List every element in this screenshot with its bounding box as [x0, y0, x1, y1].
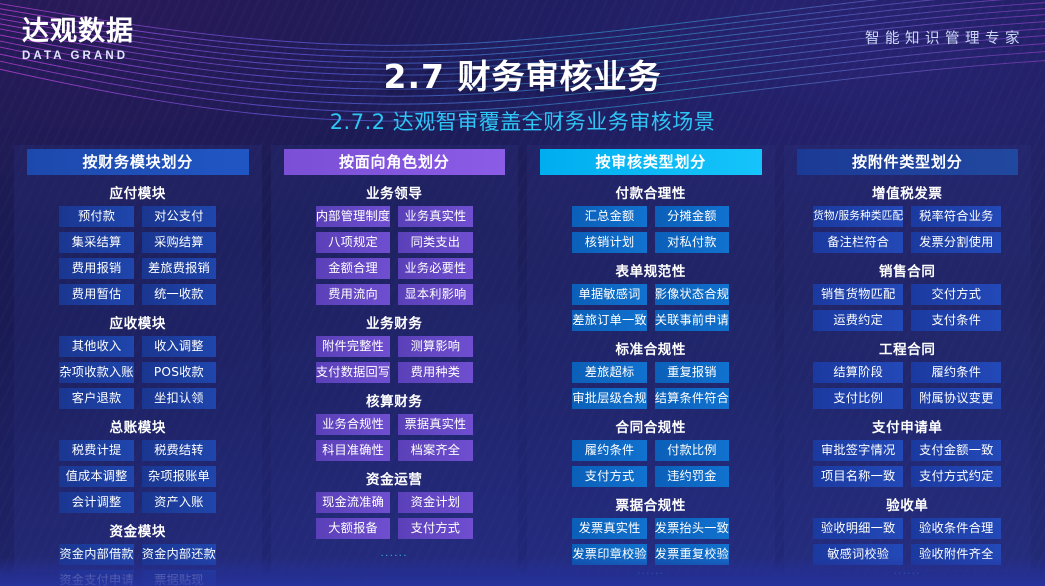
section-title: 资金模块 [59, 520, 216, 540]
section-item-grid: 业务合规性票据真实性科目准确性档案齐全 [316, 414, 473, 461]
category-item[interactable]: 显本利影响 [398, 284, 472, 305]
section-title: 应付模块 [59, 182, 216, 202]
category-item[interactable]: 差旅费报销 [142, 258, 216, 279]
section-title: 核算财务 [316, 390, 473, 410]
section-title: 业务财务 [316, 312, 473, 332]
category-item[interactable]: 附属协议变更 [911, 388, 1001, 409]
category-item[interactable]: 审批签字情况 [813, 440, 903, 461]
category-item[interactable]: 金额合理 [316, 258, 390, 279]
category-item[interactable]: 客户退款 [59, 388, 133, 409]
section-item-grid: 其他收入收入调整杂项收款入账POS收款客户退款坐扣认领 [59, 336, 216, 409]
category-item[interactable]: 档案齐全 [398, 440, 472, 461]
category-item[interactable]: 影像状态合规 [655, 284, 729, 305]
page-subtitle: 2.7.2 达观智审覆盖全财务业务审核场景 [0, 106, 1045, 136]
category-item[interactable]: 费用暂估 [59, 284, 133, 305]
section-title: 总账模块 [59, 416, 216, 436]
category-item[interactable]: 支付方式 [398, 518, 472, 539]
category-item[interactable]: 结算条件符合 [655, 388, 729, 409]
section-title: 销售合同 [813, 260, 1001, 280]
category-item[interactable]: 备注栏符合 [813, 232, 903, 253]
category-item[interactable]: 重复报销 [655, 362, 729, 383]
category-item[interactable]: 会计调整 [59, 492, 133, 513]
category-item[interactable]: 大额报备 [316, 518, 390, 539]
category-item[interactable]: 内部管理制度 [316, 206, 390, 227]
column-header: 按财务模块划分 [27, 149, 249, 175]
section-title: 验收单 [813, 494, 1001, 514]
category-item[interactable]: 业务真实性 [398, 206, 472, 227]
category-item[interactable]: 单据敏感词 [572, 284, 646, 305]
section-item-grid: 销售货物匹配交付方式运费约定支付条件 [813, 284, 1001, 331]
category-item[interactable]: 值成本调整 [59, 466, 133, 487]
category-item[interactable]: 发票真实性 [572, 518, 646, 539]
category-item[interactable]: 业务必要性 [398, 258, 472, 279]
category-item[interactable]: 预付款 [59, 206, 133, 227]
category-item[interactable]: 销售货物匹配 [813, 284, 903, 305]
section-item-grid: 结算阶段履约条件支付比例附属协议变更 [813, 362, 1001, 409]
category-item[interactable]: 付款比例 [655, 440, 729, 461]
category-item[interactable]: 货物/服务种类匹配 [813, 206, 903, 227]
category-item[interactable]: 核销计划 [572, 232, 646, 253]
category-item[interactable]: 差旅订单一致 [572, 310, 646, 331]
category-item[interactable]: 杂项报账单 [142, 466, 216, 487]
category-item[interactable]: 费用种类 [398, 362, 472, 383]
category-item[interactable]: 验收明细一致 [813, 518, 903, 539]
column-body: 增值税发票货物/服务种类匹配税率符合业务备注栏符合发票分割使用销售合同销售货物匹… [813, 175, 1001, 565]
section-item-grid: 附件完整性测算影响支付数据回写费用种类 [316, 336, 473, 383]
category-item[interactable]: 对私付款 [655, 232, 729, 253]
category-item[interactable]: 票据真实性 [398, 414, 472, 435]
category-item[interactable]: 费用流向 [316, 284, 390, 305]
section-title: 工程合同 [813, 338, 1001, 358]
section-title: 应收模块 [59, 312, 216, 332]
category-item[interactable]: 现金流准确 [316, 492, 390, 513]
category-item[interactable]: 集采结算 [59, 232, 133, 253]
category-item[interactable]: 测算影响 [398, 336, 472, 357]
category-columns: 按财务模块划分 应付模块预付款对公支付集采结算采购结算费用报销差旅费报销费用暂估… [14, 145, 1031, 573]
section-item-grid: 预付款对公支付集采结算采购结算费用报销差旅费报销费用暂估统一收款 [59, 206, 216, 305]
column-audit-type: 按审核类型划分 付款合理性汇总金额分摊金额核销计划对私付款表单规范性单据敏感词影… [527, 145, 775, 573]
section-title: 业务领导 [316, 182, 473, 202]
section-item-grid: 汇总金额分摊金额核销计划对私付款 [572, 206, 729, 253]
category-item[interactable]: 分摊金额 [655, 206, 729, 227]
category-item[interactable]: 结算阶段 [813, 362, 903, 383]
section-title: 标准合规性 [572, 338, 729, 358]
category-item[interactable]: 审批层级合规 [572, 388, 646, 409]
category-item[interactable]: 履约条件 [572, 440, 646, 461]
section-item-grid: 现金流准确资金计划大额报备支付方式 [316, 492, 473, 539]
category-item[interactable]: 违约罚金 [655, 466, 729, 487]
category-item[interactable]: 发票分割使用 [911, 232, 1001, 253]
category-item[interactable]: 支付比例 [813, 388, 903, 409]
column-finance-module: 按财务模块划分 应付模块预付款对公支付集采结算采购结算费用报销差旅费报销费用暂估… [14, 145, 262, 573]
section-item-grid: 履约条件付款比例支付方式违约罚金 [572, 440, 729, 487]
brand-name-cn: 达观数据 [22, 18, 152, 46]
column-role-facing: 按面向角色划分 业务领导内部管理制度业务真实性八项规定同类支出金额合理业务必要性… [271, 145, 519, 573]
category-item[interactable]: 项目名称一致 [813, 466, 903, 487]
category-item[interactable]: 附件完整性 [316, 336, 390, 357]
category-item[interactable]: 费用报销 [59, 258, 133, 279]
category-item[interactable]: 八项规定 [316, 232, 390, 253]
column-body: 业务领导内部管理制度业务真实性八项规定同类支出金额合理业务必要性费用流向显本利影… [316, 175, 473, 539]
category-item[interactable]: 税费计提 [59, 440, 133, 461]
category-item[interactable]: 采购结算 [142, 232, 216, 253]
category-item[interactable]: 支付条件 [911, 310, 1001, 331]
category-item[interactable]: 支付方式约定 [911, 466, 1001, 487]
section-title: 增值税发票 [813, 182, 1001, 202]
section-item-grid: 差旅超标重复报销审批层级合规结算条件符合 [572, 362, 729, 409]
category-item[interactable]: 科目准确性 [316, 440, 390, 461]
section-title: 资金运营 [316, 468, 473, 488]
bottom-glow-bar [0, 556, 1045, 586]
category-item[interactable]: 杂项收款入账 [59, 362, 133, 383]
column-body: 应付模块预付款对公支付集采结算采购结算费用报销差旅费报销费用暂估统一收款应收模块… [59, 175, 216, 586]
section-item-grid: 税费计提税费结转值成本调整杂项报账单会计调整资产入账 [59, 440, 216, 513]
category-item[interactable]: 发票抬头一致 [655, 518, 729, 539]
category-item[interactable]: POS收款 [142, 362, 216, 383]
column-header: 按面向角色划分 [284, 149, 506, 175]
category-item[interactable]: 业务合规性 [316, 414, 390, 435]
category-item[interactable]: 统一收款 [142, 284, 216, 305]
section-item-grid: 审批签字情况支付金额一致项目名称一致支付方式约定 [813, 440, 1001, 487]
section-item-grid: 内部管理制度业务真实性八项规定同类支出金额合理业务必要性费用流向显本利影响 [316, 206, 473, 305]
column-attachment-type: 按附件类型划分 增值税发票货物/服务种类匹配税率符合业务备注栏符合发票分割使用销… [784, 145, 1032, 573]
category-item[interactable]: 支付数据回写 [316, 362, 390, 383]
category-item[interactable]: 资产入账 [142, 492, 216, 513]
category-item[interactable]: 履约条件 [911, 362, 1001, 383]
category-item[interactable]: 税费结转 [142, 440, 216, 461]
page-title: 2.7 财务审核业务 [0, 50, 1045, 98]
section-title: 付款合理性 [572, 182, 729, 202]
category-item[interactable]: 资金计划 [398, 492, 472, 513]
brand-tagline-reflection: 智能知识管理专家 [865, 38, 1025, 44]
category-item[interactable]: 验收条件合理 [911, 518, 1001, 539]
category-item[interactable]: 同类支出 [398, 232, 472, 253]
section-item-grid: 货物/服务种类匹配税率符合业务备注栏符合发票分割使用 [813, 206, 1001, 253]
category-item[interactable]: 税率符合业务 [911, 206, 1001, 227]
category-item[interactable]: 汇总金额 [572, 206, 646, 227]
category-item[interactable]: 交付方式 [911, 284, 1001, 305]
section-item-grid: 单据敏感词影像状态合规差旅订单一致关联事前申请 [572, 284, 729, 331]
column-header: 按附件类型划分 [797, 149, 1019, 175]
category-item[interactable]: 关联事前申请 [655, 310, 729, 331]
category-item[interactable]: 收入调整 [142, 336, 216, 357]
category-item[interactable]: 支付金额一致 [911, 440, 1001, 461]
category-item[interactable]: 其他收入 [59, 336, 133, 357]
section-title: 支付申请单 [813, 416, 1001, 436]
column-header: 按审核类型划分 [540, 149, 762, 175]
column-body: 付款合理性汇总金额分摊金额核销计划对私付款表单规范性单据敏感词影像状态合规差旅订… [572, 175, 729, 565]
category-item[interactable]: 运费约定 [813, 310, 903, 331]
category-item[interactable]: 差旅超标 [572, 362, 646, 383]
section-title: 票据合规性 [572, 494, 729, 514]
section-title: 合同合规性 [572, 416, 729, 436]
category-item[interactable]: 对公支付 [142, 206, 216, 227]
category-item[interactable]: 坐扣认领 [142, 388, 216, 409]
category-item[interactable]: 支付方式 [572, 466, 646, 487]
section-title: 表单规范性 [572, 260, 729, 280]
